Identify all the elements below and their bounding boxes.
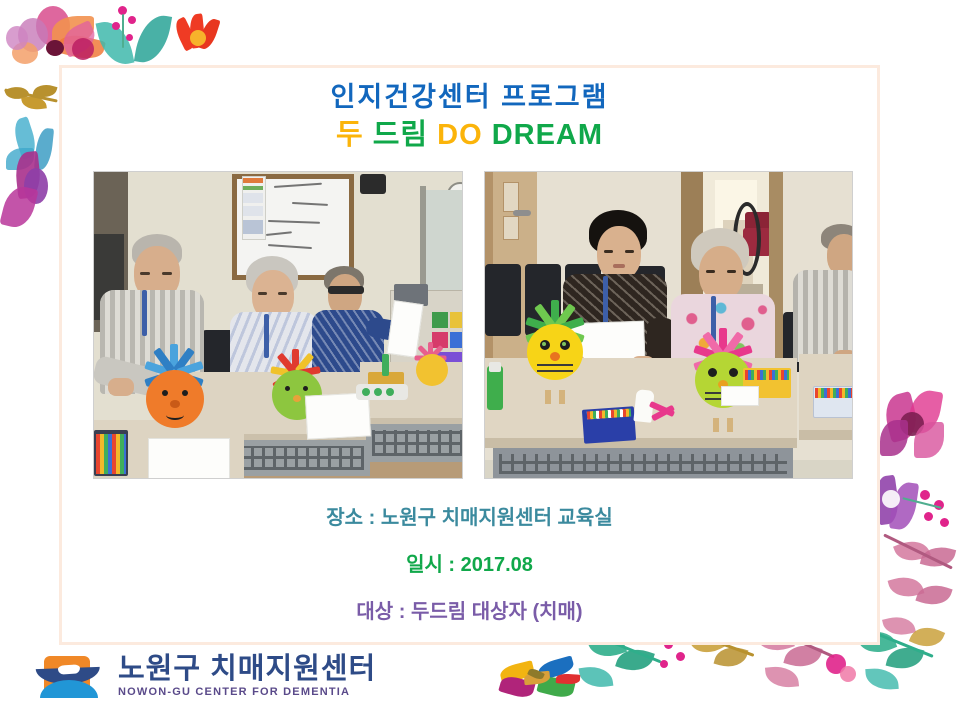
- logo-text-block: 노원구 치매지원센터 NOWON-GU CENTER FOR DEMENTIA: [118, 654, 376, 698]
- photo-gallery: [93, 171, 853, 481]
- info-place: 장소 : 노원구 치매지원센터 교육실: [62, 508, 877, 528]
- decor-floral-right: [874, 390, 960, 660]
- poster-card: 인지건강센터 프로그램 두 드림 DO DREAM: [59, 65, 880, 645]
- poster-canvas: 인지건강센터 프로그램 두 드림 DO DREAM: [0, 0, 960, 720]
- poster-title-block: 인지건강센터 프로그램 두 드림 DO DREAM: [62, 68, 877, 153]
- subtitle-ko-du: 두: [336, 119, 364, 151]
- subtitle-en-dream: DREAM: [492, 119, 603, 151]
- butterfly-logo-icon: [500, 658, 578, 702]
- subtitle-en-do: DO: [437, 119, 483, 151]
- subtitle-ko-dream: 드림: [373, 119, 428, 151]
- craft-sun-orange: [124, 348, 224, 448]
- photo-left: [93, 171, 463, 479]
- info-date: 일시 : 2017.08: [62, 555, 877, 575]
- poster-footer: 노원구 치매지원센터 NOWON-GU CENTER FOR DEMENTIA: [0, 648, 960, 720]
- craft-sun-yellow: [507, 304, 603, 400]
- photo-right: [484, 171, 854, 479]
- logo-english-name: NOWON-GU CENTER FOR DEMENTIA: [118, 686, 376, 698]
- page-title: 인지건강센터 프로그램: [62, 82, 877, 113]
- info-target: 대상 : 두드림 대상자 (치매): [62, 602, 877, 622]
- logo-korean-name: 노원구 치매지원센터: [118, 654, 376, 684]
- poster-info-block: 장소 : 노원구 치매지원센터 교육실 일시 : 2017.08 대상 : 두드…: [62, 508, 877, 622]
- craft-sun-small: [404, 342, 458, 396]
- nowon-gu-logo-icon: [36, 656, 94, 700]
- poster-subtitle: 두 드림 DO DREAM: [62, 117, 877, 153]
